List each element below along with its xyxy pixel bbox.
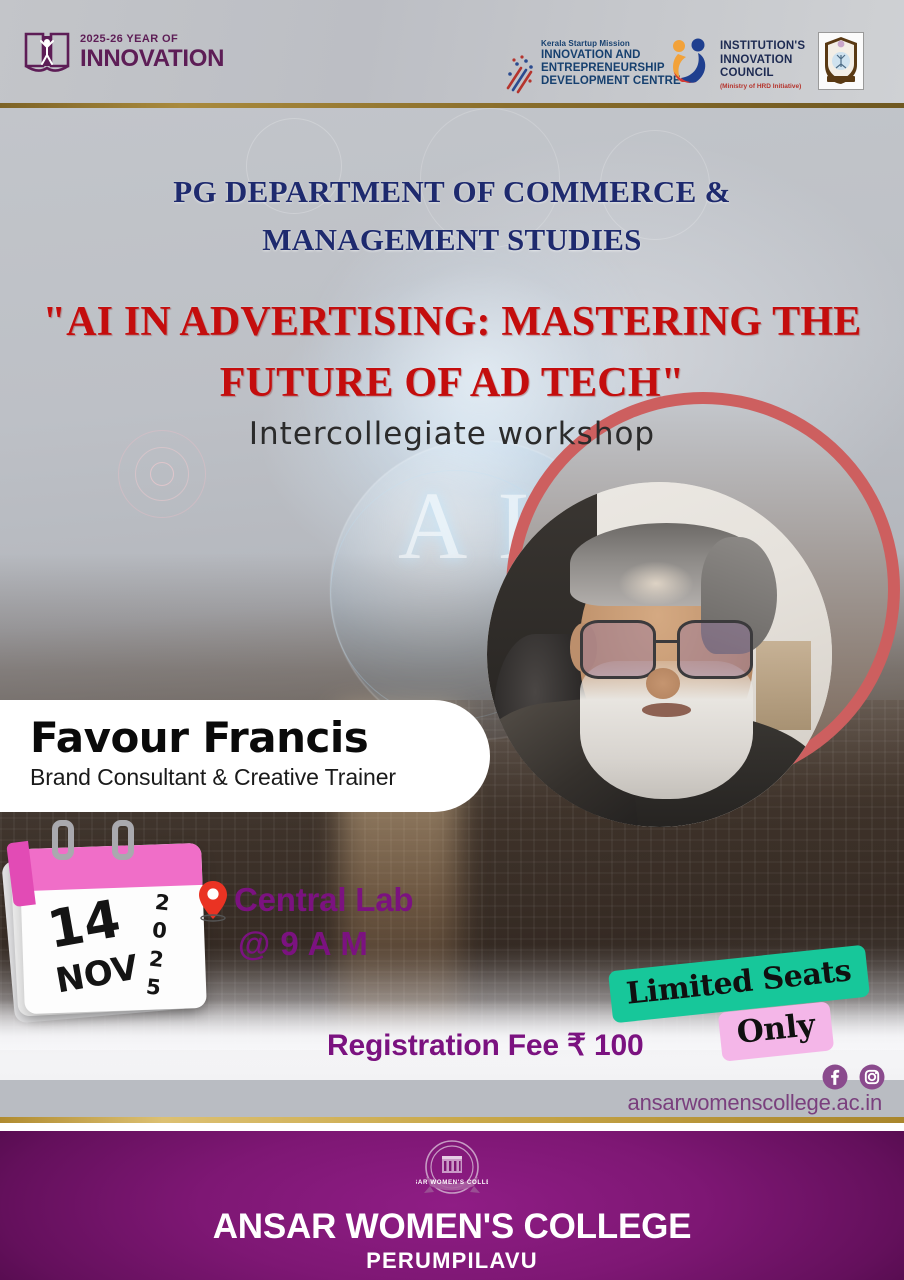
calendar-year-digit: 0 bbox=[151, 916, 169, 946]
yoi-main-line: INNOVATION bbox=[80, 47, 224, 71]
workshop-title-line-1: "AI IN ADVERTISING: MASTERING THE bbox=[0, 292, 904, 353]
venue-row: Central Lab bbox=[196, 878, 413, 922]
iic-figures-icon bbox=[668, 38, 714, 86]
ksum-line-2: INNOVATION AND bbox=[541, 49, 681, 62]
department-line-1: PG DEPARTMENT OF COMMERCE & bbox=[0, 168, 904, 216]
workshop-subtitle: Intercollegiate workshop bbox=[0, 416, 904, 452]
header-college-crest-icon bbox=[818, 32, 864, 90]
iic-text-block: INSTITUTION'S INNOVATION COUNCIL (Minist… bbox=[720, 38, 805, 90]
ksum-text-block: Kerala Startup Mission INNOVATION AND EN… bbox=[541, 40, 681, 88]
calendar-year-digit: 5 bbox=[145, 973, 163, 1003]
speaker-photo bbox=[487, 482, 832, 827]
venue-name: Central Lab bbox=[234, 881, 413, 919]
calendar-year-digit: 2 bbox=[154, 888, 172, 918]
college-crest-icon: ANSAR WOMEN'S COLLEGE bbox=[416, 1137, 488, 1205]
event-date-calendar: 14 NOV 2 0 2 5 bbox=[8, 820, 223, 1035]
footer-bar: ANSAR WOMEN'S COLLEGE ANSAR WOMEN'S COLL… bbox=[0, 1131, 904, 1280]
svg-text:ANSAR WOMEN'S COLLEGE: ANSAR WOMEN'S COLLEGE bbox=[416, 1179, 488, 1186]
social-links[interactable] bbox=[822, 1064, 885, 1090]
ksum-line-3: ENTREPRENEURSHIP bbox=[541, 62, 681, 75]
calendar-rings bbox=[48, 820, 168, 866]
decorative-ring bbox=[150, 462, 174, 486]
department-line-2: MANAGEMENT STUDIES bbox=[0, 216, 904, 264]
event-poster: AI 2025-26 YEAR OF INNOVATION bbox=[0, 0, 904, 1280]
calendar-year: 2 0 2 5 bbox=[145, 888, 171, 1002]
event-time: @ 9 A M bbox=[238, 925, 368, 963]
ksum-dots-icon bbox=[505, 52, 535, 98]
ksum-iedc-logo: Kerala Startup Mission INNOVATION AND EN… bbox=[505, 40, 681, 98]
ksum-line-1: Kerala Startup Mission bbox=[541, 40, 681, 49]
iic-line-3: COUNCIL bbox=[720, 67, 805, 81]
speaker-name-card: Favour Francis Brand Consultant & Creati… bbox=[0, 700, 490, 812]
registration-fee: Registration Fee ₹ 100 bbox=[327, 1028, 643, 1063]
calendar-day: 14 bbox=[43, 889, 125, 961]
college-name: ANSAR WOMEN'S COLLEGE bbox=[0, 1207, 904, 1247]
year-of-innovation-text: 2025-26 YEAR OF INNOVATION bbox=[80, 34, 224, 71]
location-pin-icon bbox=[196, 878, 230, 922]
open-book-person-icon bbox=[22, 26, 72, 78]
institutions-innovation-council-logo: INSTITUTION'S INNOVATION COUNCIL (Minist… bbox=[668, 38, 805, 90]
header-divider bbox=[0, 103, 904, 108]
calendar-year-digit: 2 bbox=[148, 944, 166, 974]
iic-line-2: INNOVATION bbox=[720, 54, 805, 68]
ksum-line-4: DEVELOPMENT CENTRE bbox=[541, 75, 681, 88]
website-url[interactable]: ansarwomenscollege.ac.in bbox=[628, 1090, 882, 1116]
iic-line-1: INSTITUTION'S bbox=[720, 40, 805, 54]
iic-sub-line: (Ministry of HRD Initiative) bbox=[720, 83, 805, 91]
instagram-icon[interactable] bbox=[859, 1064, 885, 1090]
workshop-title: "AI IN ADVERTISING: MASTERING THE FUTURE… bbox=[0, 292, 904, 414]
department-title: PG DEPARTMENT OF COMMERCE & MANAGEMENT S… bbox=[0, 168, 904, 264]
only-label: Only bbox=[735, 1007, 816, 1051]
footer-white-gap bbox=[0, 1123, 904, 1131]
header-bar: 2025-26 YEAR OF INNOVATION bbox=[0, 0, 904, 104]
college-place: PERUMPILAVU bbox=[0, 1248, 904, 1274]
speaker-name: Favour Francis bbox=[30, 716, 490, 760]
workshop-title-line-2: FUTURE OF AD TECH" bbox=[0, 353, 904, 414]
year-of-innovation-logo: 2025-26 YEAR OF INNOVATION bbox=[22, 26, 224, 78]
yoi-top-line: 2025-26 YEAR OF bbox=[80, 34, 224, 45]
speaker-role: Brand Consultant & Creative Trainer bbox=[30, 764, 490, 791]
facebook-icon[interactable] bbox=[822, 1064, 848, 1090]
